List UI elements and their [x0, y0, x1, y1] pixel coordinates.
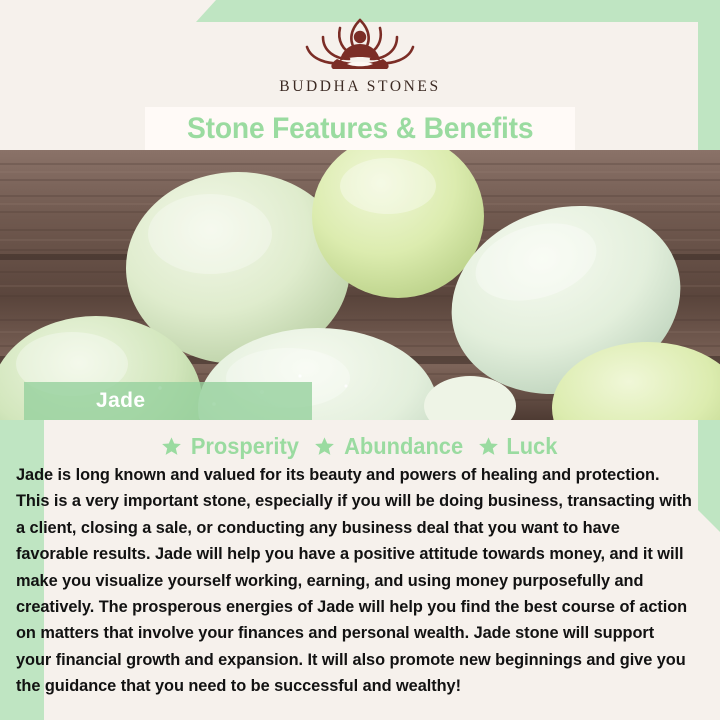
benefit-label: Abundance	[344, 433, 463, 460]
infographic-page: BUDDHA STONES Stone Features & Benefits	[0, 0, 720, 720]
lotus-meditation-icon	[285, 14, 435, 76]
photo-caption-text: Jade	[96, 389, 145, 413]
page-title: Stone Features & Benefits	[187, 112, 533, 146]
benefit-item: Luck	[478, 433, 559, 460]
photo-caption-bar: Jade	[24, 382, 312, 420]
brand-logo: BUDDHA STONES	[0, 14, 720, 106]
star-icon	[478, 436, 499, 457]
title-banner: Stone Features & Benefits	[145, 107, 575, 150]
benefit-label: Prosperity	[191, 433, 299, 460]
star-icon	[314, 436, 335, 457]
brand-name: BUDDHA STONES	[279, 78, 440, 96]
benefit-label: Luck	[506, 433, 557, 460]
jade-stones-image	[0, 150, 720, 420]
hero-photo	[0, 150, 720, 420]
description-text: Jade is long known and valued for its be…	[16, 462, 694, 700]
benefits-row: Prosperity Abundance Luck	[0, 430, 720, 463]
benefit-item: Prosperity	[161, 433, 302, 460]
star-icon	[161, 436, 182, 457]
description-block: Jade is long known and valued for its be…	[16, 462, 704, 702]
benefit-item: Abundance	[314, 433, 466, 460]
